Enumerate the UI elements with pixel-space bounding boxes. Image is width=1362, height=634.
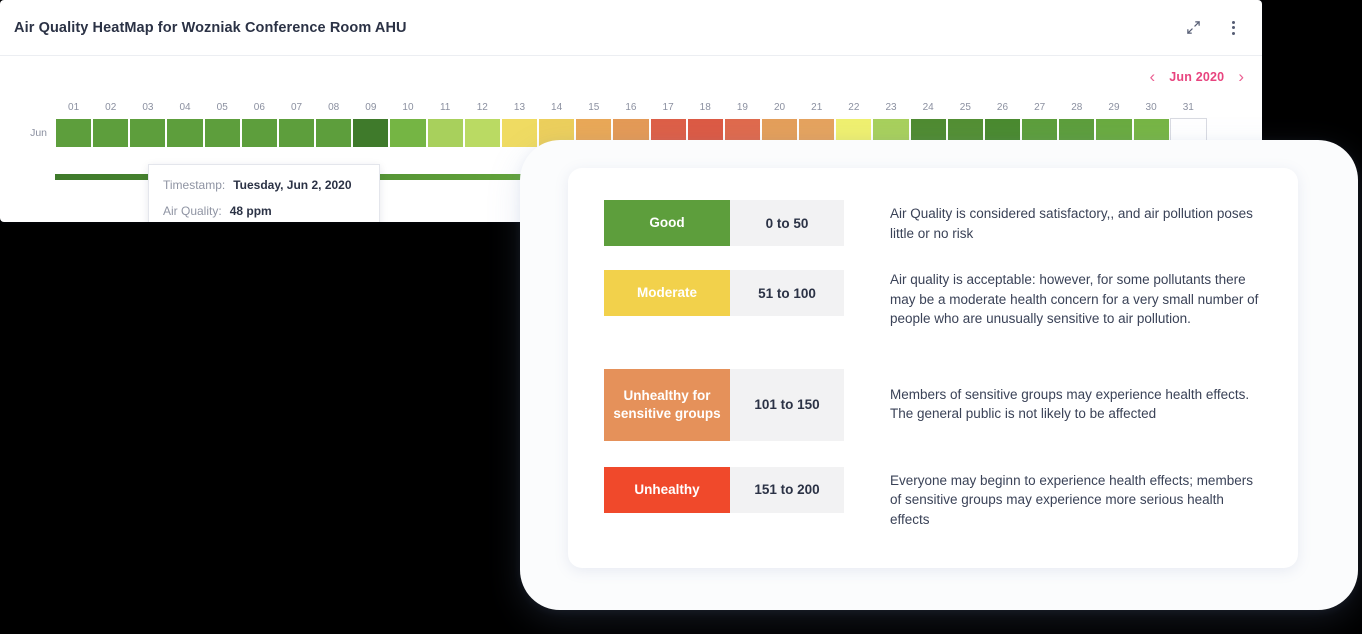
tooltip-timestamp-row: Timestamp: Tuesday, Jun 2, 2020 (163, 178, 365, 192)
legend-row-unhealthy: Unhealthy 151 to 200 Everyone may beginn… (604, 467, 1264, 530)
heatmap-cell[interactable] (464, 118, 501, 148)
heatmap-cell[interactable] (501, 118, 538, 148)
legend-range-unhealthy-sensitive: 101 to 150 (730, 369, 844, 441)
heatmap-day-tick: 22 (835, 102, 872, 118)
legend-description-text: Air Quality is considered satisfactory,,… (890, 204, 1264, 243)
prev-month-button[interactable]: ‹ (1150, 68, 1156, 85)
heatmap-day-tick: 05 (204, 102, 241, 118)
legend-description-text: Everyone may beginn to experience health… (890, 471, 1264, 530)
legend-row-good: Good 0 to 50 Air Quality is considered s… (604, 200, 1264, 246)
legend-row-moderate: Moderate 51 to 100 Air quality is accept… (604, 270, 1264, 329)
next-month-button[interactable]: › (1238, 68, 1244, 85)
heatmap-day-tick: 31 (1170, 102, 1207, 118)
header-icon-group (1184, 19, 1242, 37)
legend-row-unhealthy-sensitive: Unhealthy for sensitive groups 101 to 15… (604, 369, 1264, 441)
menu-dots (1232, 21, 1235, 35)
heatmap-day-tick: 13 (501, 102, 538, 118)
heatmap-day-tick: 02 (92, 102, 129, 118)
vertical-dots-icon[interactable] (1224, 19, 1242, 37)
heatmap-cell[interactable] (427, 118, 464, 148)
legend-description-text: Air quality is acceptable: however, for … (890, 270, 1264, 329)
heatmap-cell[interactable] (352, 118, 389, 148)
expand-arrows-icon[interactable] (1184, 19, 1202, 37)
heatmap-cell[interactable] (389, 118, 426, 148)
heatmap-day-tick: 27 (1021, 102, 1058, 118)
heatmap-day-tick: 25 (947, 102, 984, 118)
heatmap-day-tick: 01 (55, 102, 92, 118)
heatmap-day-tick: 28 (1058, 102, 1095, 118)
legend-swatch-group: Unhealthy 151 to 200 (604, 467, 844, 513)
legend-range-moderate: 51 to 100 (730, 270, 844, 316)
heatmap-cell[interactable] (241, 118, 278, 148)
legend-swatch-group: Moderate 51 to 100 (604, 270, 844, 316)
heatmap-day-tick: 23 (872, 102, 909, 118)
screen: Air Quality HeatMap for Wozniak Conferen… (0, 0, 1362, 634)
heatmap-day-tick: 06 (241, 102, 278, 118)
month-navigator: ‹ Jun 2020 › (1150, 68, 1244, 85)
heatmap-day-tick: 19 (724, 102, 761, 118)
heatmap-day-tick: 16 (612, 102, 649, 118)
heatmap-day-tick: 08 (315, 102, 352, 118)
heatmap-cell[interactable] (204, 118, 241, 148)
tooltip-timestamp-label: Timestamp: (163, 178, 225, 192)
heatmap-day-tick: 04 (166, 102, 203, 118)
heatmap-cell[interactable] (315, 118, 352, 148)
card-header: Air Quality HeatMap for Wozniak Conferen… (0, 0, 1262, 56)
legend-description-moderate: Air quality is acceptable: however, for … (844, 270, 1264, 329)
current-month-label: Jun 2020 (1169, 70, 1224, 84)
legend-color-swatch-good: Good (604, 200, 730, 246)
heatmap-row-label: Jun (0, 118, 55, 148)
heatmap-day-tick: 11 (427, 102, 464, 118)
page-title: Air Quality HeatMap for Wozniak Conferen… (14, 20, 1184, 36)
heatmap-cell[interactable] (166, 118, 203, 148)
tooltip-timestamp-value: Tuesday, Jun 2, 2020 (233, 178, 351, 192)
heatmap-day-tick: 21 (798, 102, 835, 118)
heatmap-day-tick: 12 (464, 102, 501, 118)
heatmap-day-tick: 15 (575, 102, 612, 118)
legend-color-swatch-unhealthy-sensitive: Unhealthy for sensitive groups (604, 369, 730, 441)
heatmap-day-axis: 0102030405060708091011121314151617181920… (55, 102, 1207, 118)
heatmap-day-tick: 24 (910, 102, 947, 118)
heatmap-day-tick: 03 (129, 102, 166, 118)
heatmap-day-tick: 14 (538, 102, 575, 118)
legend-swatch-group: Good 0 to 50 (604, 200, 844, 246)
legend-color-swatch-unhealthy: Unhealthy (604, 467, 730, 513)
heatmap-day-tick: 30 (1133, 102, 1170, 118)
heatmap-tooltip: Timestamp: Tuesday, Jun 2, 2020 Air Qual… (148, 164, 380, 222)
heatmap-cell[interactable] (92, 118, 129, 148)
legend-description-text: Members of sensitive groups may experien… (890, 385, 1264, 424)
legend-outer-panel: Good 0 to 50 Air Quality is considered s… (520, 140, 1358, 610)
legend-description-unhealthy-sensitive: Members of sensitive groups may experien… (844, 369, 1264, 441)
heatmap-cell[interactable] (55, 118, 92, 148)
heatmap-cell[interactable] (129, 118, 166, 148)
legend-range-unhealthy: 151 to 200 (730, 467, 844, 513)
air-quality-legend-card: Good 0 to 50 Air Quality is considered s… (568, 168, 1298, 568)
legend-description-unhealthy: Everyone may beginn to experience health… (844, 467, 1264, 530)
heatmap-day-tick: 26 (984, 102, 1021, 118)
heatmap-day-tick: 17 (650, 102, 687, 118)
tooltip-quality-row: Air Quality: 48 ppm (163, 204, 365, 218)
legend-description-good: Air Quality is considered satisfactory,,… (844, 200, 1264, 246)
tooltip-quality-value: 48 ppm (230, 204, 272, 218)
heatmap-day-tick: 18 (687, 102, 724, 118)
heatmap-day-tick: 10 (389, 102, 426, 118)
heatmap-day-tick: 29 (1095, 102, 1132, 118)
heatmap-cell[interactable] (278, 118, 315, 148)
legend-range-good: 0 to 50 (730, 200, 844, 246)
heatmap-day-tick: 20 (761, 102, 798, 118)
tooltip-quality-label: Air Quality: (163, 204, 222, 218)
legend-swatch-group: Unhealthy for sensitive groups 101 to 15… (604, 369, 844, 441)
heatmap-day-tick: 09 (352, 102, 389, 118)
legend-color-swatch-moderate: Moderate (604, 270, 730, 316)
heatmap-day-tick: 07 (278, 102, 315, 118)
